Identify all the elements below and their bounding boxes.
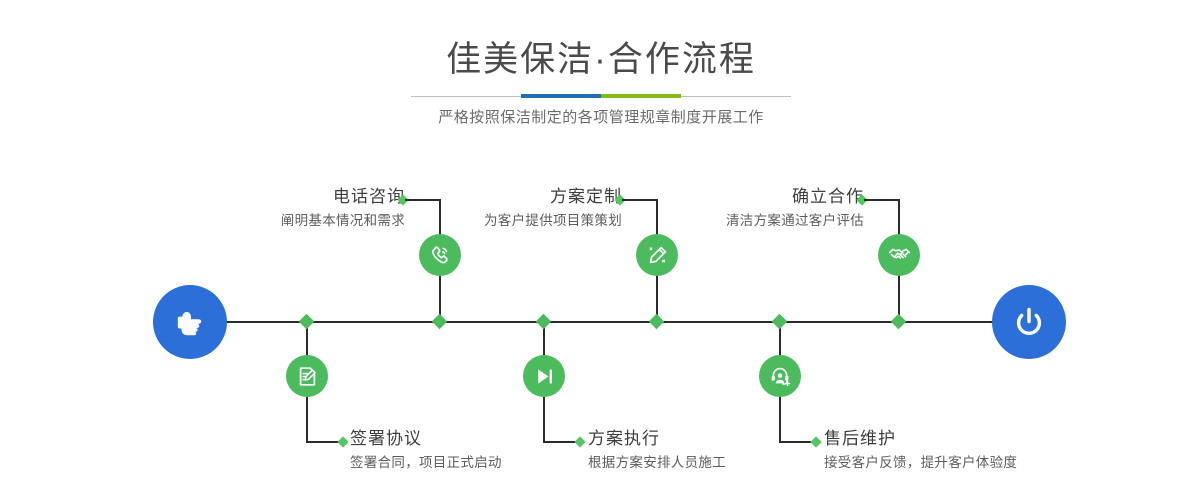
divider-rule-left	[411, 96, 521, 97]
step-label-below-2: 售后维护 接受客户反馈，提升客户体验度	[824, 427, 1017, 474]
axis-marker-above-2	[891, 314, 907, 330]
timeline-end-endpoint	[992, 285, 1066, 359]
connector-dot-below-2	[810, 436, 821, 447]
divider-rule-right	[681, 96, 791, 97]
page-subtitle: 严格按照保洁制定的各项管理规章制度开展工作	[0, 106, 1202, 130]
step-node-below-1	[523, 355, 565, 397]
step-label-above-2: 确立合作 清洁方案通过客户评估	[726, 185, 864, 232]
connector-horizontal-above-0	[405, 199, 441, 201]
step-title: 方案执行	[588, 427, 726, 451]
connector-dot-below-0	[337, 436, 348, 447]
handshake-icon	[887, 243, 912, 268]
connector-dot-below-1	[574, 436, 585, 447]
step-desc: 根据方案安排人员施工	[588, 451, 726, 474]
step-title: 签署协议	[350, 427, 502, 451]
timeline-start-endpoint	[153, 285, 227, 359]
title-divider	[411, 94, 791, 98]
step-title: 确立合作	[726, 185, 864, 209]
step-title: 电话咨询	[281, 185, 405, 209]
step-label-above-1: 方案定制 为客户提供项目策策划	[484, 185, 622, 232]
step-node-above-2	[878, 234, 920, 276]
customer-support-icon	[768, 364, 793, 389]
pencil-edit-icon	[645, 243, 670, 268]
step-node-above-0	[419, 234, 461, 276]
axis-marker-above-0	[432, 314, 448, 330]
step-desc: 清洁方案通过客户评估	[726, 209, 864, 232]
step-node-below-2	[759, 355, 801, 397]
process-flow-infographic: 佳美保洁·合作流程 严格按照保洁制定的各项管理规章制度开展工作 电话咨询	[0, 0, 1202, 502]
axis-marker-above-1	[649, 314, 665, 330]
connector-horizontal-above-2	[864, 199, 900, 201]
step-title: 售后维护	[824, 427, 1017, 451]
timeline-axis	[160, 321, 1042, 323]
play-execute-icon	[532, 364, 557, 389]
step-label-below-0: 签署协议 签署合同，项目正式启动	[350, 427, 502, 474]
axis-marker-below-1	[536, 314, 552, 330]
pointing-hand-icon	[170, 302, 210, 342]
step-node-below-0	[286, 355, 328, 397]
step-desc: 接受客户反馈，提升客户体验度	[824, 451, 1017, 474]
axis-marker-below-0	[299, 314, 315, 330]
phone-call-icon	[428, 243, 453, 268]
axis-marker-below-2	[772, 314, 788, 330]
document-sign-icon	[295, 364, 320, 389]
step-title: 方案定制	[484, 185, 622, 209]
divider-segment-green	[601, 94, 681, 98]
step-desc: 阐明基本情况和需求	[281, 209, 405, 232]
divider-segment-blue	[521, 94, 601, 98]
connector-horizontal-above-1	[622, 199, 658, 201]
step-label-below-1: 方案执行 根据方案安排人员施工	[588, 427, 726, 474]
power-button-icon	[1009, 302, 1049, 342]
page-title: 佳美保洁·合作流程	[0, 38, 1202, 82]
step-node-above-1	[636, 234, 678, 276]
step-label-above-0: 电话咨询 阐明基本情况和需求	[281, 185, 405, 232]
step-desc: 签署合同，项目正式启动	[350, 451, 502, 474]
step-desc: 为客户提供项目策策划	[484, 209, 622, 232]
